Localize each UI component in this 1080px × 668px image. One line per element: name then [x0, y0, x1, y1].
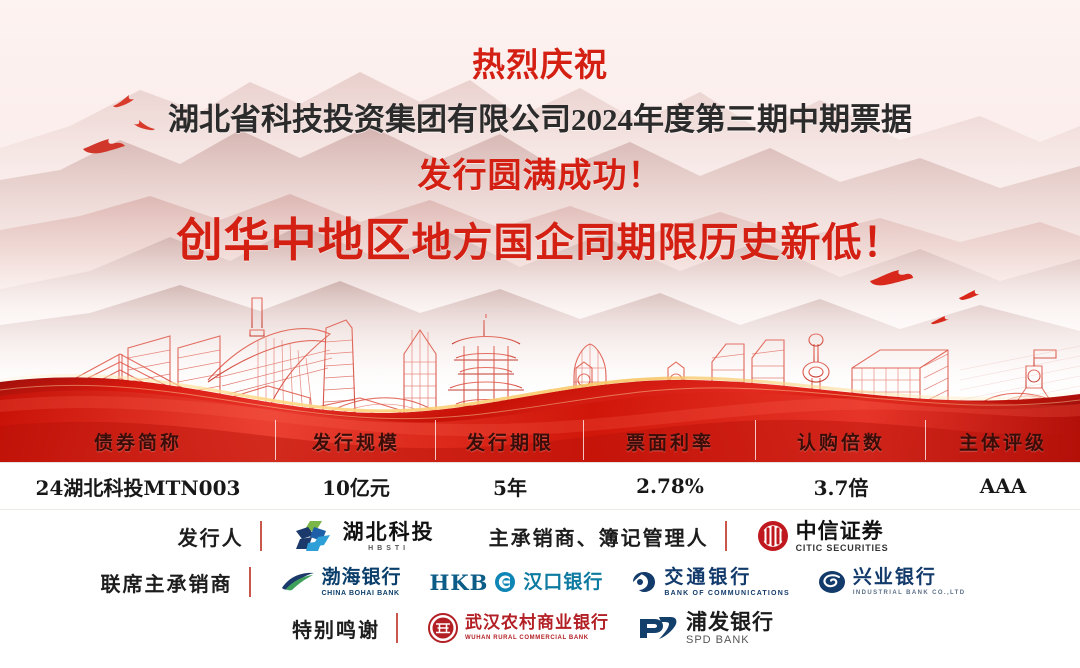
table-header-tenor: 发行期限 [436, 428, 584, 455]
headline-record-low: 创华中地区地方国企同期限历史新低！ [0, 204, 1080, 270]
logo-hubei-keitou: 湖北科投 HBSTI [292, 519, 435, 553]
table-header-subscription-multiple: 认购倍数 [756, 428, 926, 455]
partner-row-joint-underwriters: 联席主承销商 渤海银行 CHINA BOHAI BANK HKB [0, 560, 1080, 604]
bocom-coin-icon [631, 571, 657, 593]
hankou-text: 汉口银行 [523, 573, 603, 592]
logo-industrial-bank: 兴业银行 INDUSTRIAL BANK CO.,LTD [818, 568, 966, 596]
cib-name-cn: 兴业银行 [853, 568, 966, 587]
divider-2 [725, 521, 727, 551]
cib-text: 兴业银行 INDUSTRIAL BANK CO.,LTD [853, 568, 966, 596]
bohai-text: 渤海银行 CHINA BOHAI BANK [322, 568, 402, 597]
label-lead-underwriter: 主承销商、簿记管理人 [489, 522, 709, 551]
logo-wuhan-rural-commercial-bank: 武汉农村商业银行 WUHAN RURAL COMMERCIAL BANK [428, 613, 609, 643]
bond-summary-table: 债券简称 发行规模 发行期限 票面利率 认购倍数 主体评级 24湖北科投MTN0… [0, 420, 1080, 510]
table-header-coupon-rate: 票面利率 [584, 428, 756, 455]
spdb-text: 浦发银行 SPD BANK [686, 611, 774, 646]
hbsti-name-cn: 湖北科投 [343, 521, 435, 542]
bocom-name-cn: 交通银行 [664, 568, 789, 587]
logo-spd-bank: 浦发银行 SPD BANK [637, 611, 774, 646]
wrcb-seal-icon [428, 613, 458, 643]
headline-success: 发行圆满成功！ [0, 148, 1080, 197]
flying-bird-icon-5 [958, 289, 982, 301]
divider-1 [260, 521, 262, 551]
hankou-name-en: HKB [430, 570, 489, 595]
table-cell-subscription-multiple: 3.7倍 [756, 472, 926, 501]
bocom-text: 交通银行 BANK OF COMMUNICATIONS [664, 568, 789, 597]
table-header-bond-name: 债券简称 [0, 428, 276, 455]
table-cell-coupon-rate: 2.78% [584, 474, 756, 498]
logo-china-bohai-bank: 渤海银行 CHINA BOHAI BANK [281, 568, 402, 597]
flying-bird-icon-4 [868, 268, 914, 288]
wrcb-name-cn: 武汉农村商业银行 [465, 615, 609, 632]
table-header-issuer-rating: 主体评级 [926, 428, 1080, 455]
headline-issuer-line: 湖北省科技投资集团有限公司2024年度第三期中期票据 [0, 94, 1080, 139]
divider-4 [396, 613, 398, 643]
table-row: 24湖北科投MTN003 10亿元 5年 2.78% 3.7倍 AAA [0, 462, 1080, 510]
headline-record-low-emphasis: 创华中地区 [177, 213, 412, 267]
logo-bank-of-communications: 交通银行 BANK OF COMMUNICATIONS [631, 568, 789, 597]
logo-citic-securities: 中信证券 CITIC SECURITIES [757, 520, 889, 553]
partner-row-issuer: 发行人 湖北科投 HBSTI [0, 512, 1080, 560]
label-joint-underwriters: 联席主承销商 [101, 568, 233, 597]
hankou-name-cn: 汉口银行 [523, 573, 603, 592]
table-cell-issuer-rating: AAA [926, 474, 1080, 498]
table-cell-tenor: 5年 [436, 472, 584, 501]
bohai-wave-icon [281, 572, 315, 592]
table-cell-issue-size: 10亿元 [276, 472, 436, 501]
hankou-ring-icon [494, 571, 516, 593]
label-issuer: 发行人 [178, 522, 244, 551]
spdb-name-en: SPD BANK [686, 635, 774, 646]
spdb-mark-icon [637, 615, 679, 641]
cib-name-en: INDUSTRIAL BANK CO.,LTD [853, 590, 966, 596]
spdb-name-cn: 浦发银行 [686, 611, 774, 632]
wrcb-name-en: WUHAN RURAL COMMERCIAL BANK [465, 635, 609, 641]
wrcb-text: 武汉农村商业银行 WUHAN RURAL COMMERCIAL BANK [465, 615, 609, 641]
hbsti-text: 湖北科投 HBSTI [343, 521, 435, 552]
citic-name-en: CITIC SECURITIES [796, 544, 889, 553]
table-cell-bond-name: 24湖北科投MTN003 [0, 472, 276, 501]
label-special-thanks: 特别鸣谢 [292, 614, 380, 643]
citic-name-cn: 中信证券 [796, 520, 889, 541]
hbsti-name-en: HBSTI [343, 545, 435, 552]
cib-spiral-icon [818, 570, 846, 594]
table-header-row: 债券简称 发行规模 发行期限 票面利率 认购倍数 主体评级 [0, 420, 1080, 462]
hbsti-arrows-icon [292, 519, 336, 553]
bocom-name-en: BANK OF COMMUNICATIONS [664, 590, 789, 597]
headline-celebrate: 热烈庆祝 [0, 38, 1080, 86]
partner-logos-section: 发行人 湖北科投 HBSTI [0, 512, 1080, 652]
table-header-issue-size: 发行规模 [276, 428, 436, 455]
partner-row-special-thanks: 特别鸣谢 武汉农村商业银行 [0, 604, 1080, 652]
citic-text: 中信证券 CITIC SECURITIES [796, 520, 889, 553]
bohai-name-cn: 渤海银行 [322, 568, 402, 587]
divider-3 [249, 567, 251, 597]
logo-hankou-bank: HKB 汉口银行 [430, 570, 604, 595]
poster-canvas: 热烈庆祝 湖北省科技投资集团有限公司2024年度第三期中期票据 发行圆满成功！ … [0, 0, 1080, 668]
flying-bird-icon-6 [930, 315, 950, 325]
citic-seal-icon [757, 520, 789, 552]
headline-record-low-rest: 地方国企同期限历史新低！ [412, 219, 904, 266]
bohai-name-en: CHINA BOHAI BANK [322, 590, 402, 597]
